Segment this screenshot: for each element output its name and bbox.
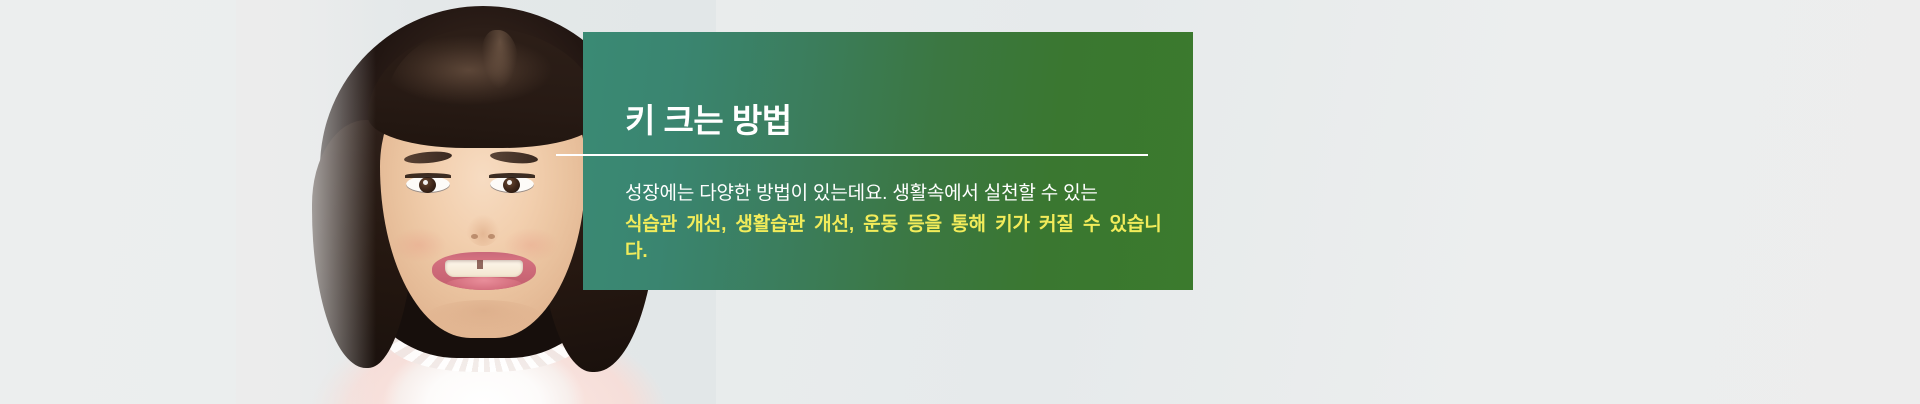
height-growth-banner: 키 크는 방법 성장에는 다양한 방법이 있는데요. 생활속에서 실천할 수 있… — [0, 0, 1920, 404]
mouth-shape — [432, 252, 536, 290]
cheek-left — [392, 228, 446, 262]
panel-body-text: 성장에는 다양한 방법이 있는데요. 생활속에서 실천할 수 있는 식습관 개선… — [625, 180, 1165, 266]
green-content-panel: 키 크는 방법 성장에는 다양한 방법이 있는데요. 생활속에서 실천할 수 있… — [583, 32, 1193, 290]
page-title: 키 크는 방법 — [625, 103, 792, 139]
eyelash-left — [405, 173, 451, 178]
teeth — [445, 260, 523, 277]
photo-left-fade — [236, 0, 376, 404]
tooth-gap — [477, 260, 483, 269]
heading-divider — [556, 154, 1148, 156]
nose-shape — [464, 200, 502, 246]
nostril-right — [488, 234, 495, 239]
eye-left — [406, 176, 450, 193]
nostril-left — [471, 234, 478, 239]
eyelash-right — [489, 173, 535, 178]
iris-right — [503, 177, 520, 193]
chin-shadow — [426, 300, 542, 334]
iris-left — [419, 177, 436, 193]
body-line-plain: 성장에는 다양한 방법이 있는데요. 생활속에서 실천할 수 있는 — [625, 180, 1165, 208]
eye-right — [490, 176, 534, 193]
body-line-emphasis: 식습관 개선, 생활습관 개선, 운동 등을 통해 키가 커질 수 있습니다. — [625, 211, 1165, 266]
lower-lip — [446, 277, 522, 290]
